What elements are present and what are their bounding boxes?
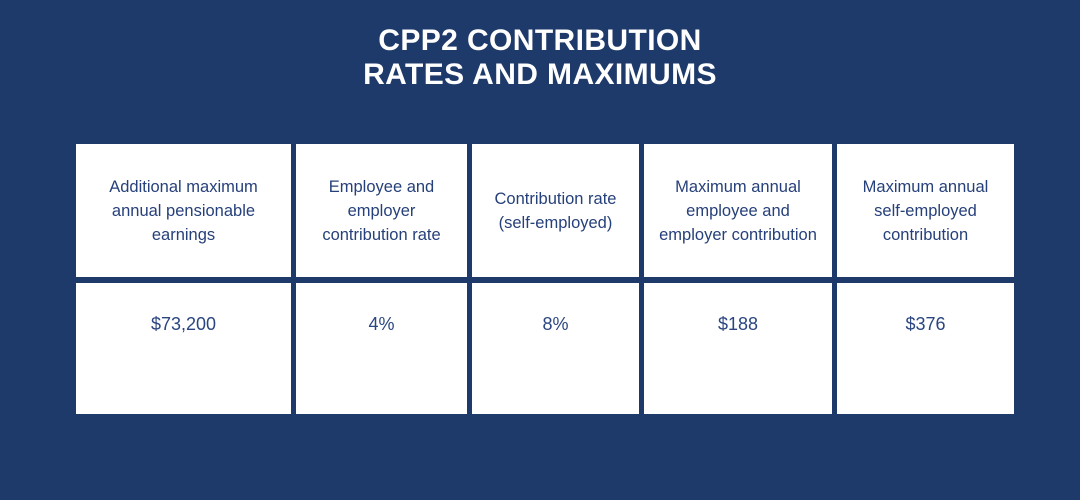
table-cell-employee-and-employer-contribution-rate-value: 4% [296, 283, 467, 414]
table-cell-additional-maximum-annual-pensionable-earnings-value: $73,200 [76, 283, 291, 414]
page-title-line-2: RATES AND MAXIMUMS [0, 58, 1080, 92]
table-cell-contribution-rate-self-employed-value: 8% [472, 283, 639, 414]
table-header-label: Maximum annual self-employed contributio… [849, 175, 1002, 247]
table-header-label: Contribution rate (self-employed) [484, 187, 627, 235]
table-header-cell-employee-and-employer-contribution-rate: Employee and employer contribution rate [296, 144, 467, 277]
cpp2-rates-table: Additional maximum annual pensionable ea… [76, 144, 1014, 415]
table-grid: Additional maximum annual pensionable ea… [76, 144, 1014, 415]
table-header-label: Employee and employer contribution rate [308, 175, 455, 247]
table-header-cell-maximum-annual-self-employed-contribution: Maximum annual self-employed contributio… [837, 144, 1014, 277]
table-header-cell-maximum-annual-employee-and-employer-contribution: Maximum annual employee and employer con… [644, 144, 832, 277]
table-cell-maximum-annual-employee-and-employer-contribution-value: $188 [644, 283, 832, 414]
table-header-cell-contribution-rate-self-employed: Contribution rate (self-employed) [472, 144, 639, 277]
page-title-line-1: CPP2 CONTRIBUTION [0, 24, 1080, 58]
table-header-cell-additional-maximum-annual-pensionable-earnings: Additional maximum annual pensionable ea… [76, 144, 291, 277]
page-title: CPP2 CONTRIBUTION RATES AND MAXIMUMS [0, 24, 1080, 92]
cpp2-infographic: CPP2 CONTRIBUTION RATES AND MAXIMUMS Add… [0, 0, 1080, 500]
table-cell-maximum-annual-self-employed-contribution-value: $376 [837, 283, 1014, 414]
table-header-label: Maximum annual employee and employer con… [656, 175, 820, 247]
table-cell-value: $73,200 [151, 312, 216, 336]
table-cell-value: $376 [905, 312, 945, 336]
table-cell-value: 8% [542, 312, 568, 336]
table-cell-value: 4% [368, 312, 394, 336]
table-cell-value: $188 [718, 312, 758, 336]
table-header-label: Additional maximum annual pensionable ea… [88, 175, 279, 247]
